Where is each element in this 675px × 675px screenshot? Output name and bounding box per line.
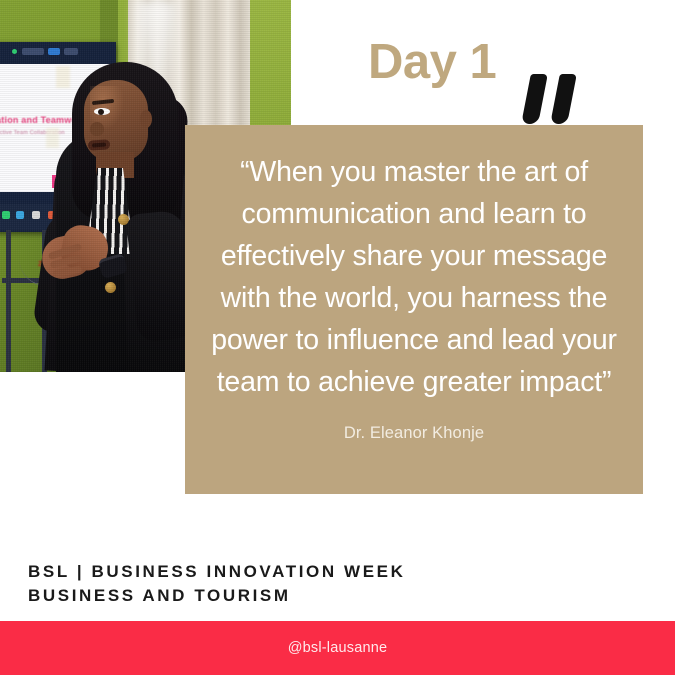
day-label: Day 1 bbox=[368, 38, 496, 87]
footer-title-line-1: BSL | BUSINESS INNOVATION WEEK bbox=[28, 560, 628, 584]
quotation-mark-icon bbox=[522, 74, 584, 126]
quotation-stroke-2 bbox=[550, 74, 577, 124]
footer-title-line-2: BUSINESS AND TOURISM bbox=[28, 584, 628, 608]
social-handle-text: @bsl-lausanne bbox=[288, 640, 388, 656]
quote-author: Dr. Eleanor Khonje bbox=[203, 424, 625, 443]
social-handle-bar: @bsl-lausanne bbox=[0, 621, 675, 675]
quote-card: “When you master the art of communicatio… bbox=[185, 125, 643, 494]
quote-text: “When you master the art of communicatio… bbox=[203, 151, 625, 403]
quotation-stroke-1 bbox=[521, 74, 548, 124]
footer-title: BSL | BUSINESS INNOVATION WEEK BUSINESS … bbox=[28, 560, 628, 608]
